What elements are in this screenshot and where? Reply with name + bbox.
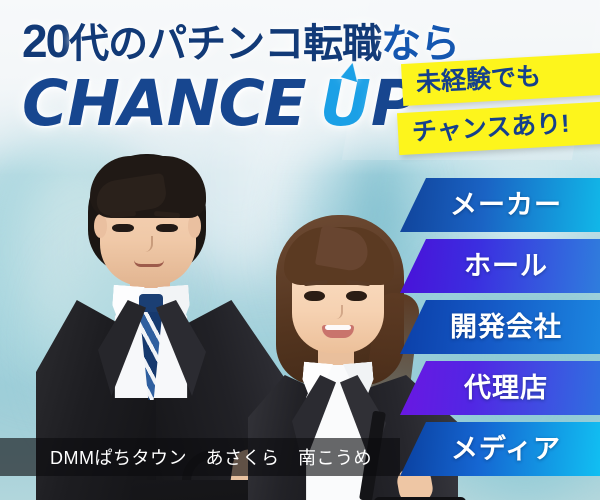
woman-eye-right [346, 291, 367, 301]
man-eye-left [112, 224, 134, 232]
man-eye-right [156, 224, 178, 232]
man-mouth [134, 260, 164, 267]
category-button-hall[interactable]: ホール [400, 239, 600, 293]
badge-chance-available: チャンスあり! [397, 101, 600, 155]
headline-number: 20 [22, 15, 69, 67]
category-label-agency: 代理店 [452, 375, 548, 402]
chance-up-logo: CHANCE U P [22, 72, 417, 135]
badge-no-experience: 未経験でも [401, 52, 600, 106]
category-label-developer: 開発会社 [438, 314, 562, 341]
category-button-media[interactable]: メディア [400, 422, 600, 476]
caption-text: DMMぱちタウン あさくら 南こうめ [0, 444, 372, 470]
woman-eye-left [304, 291, 325, 301]
headline: 20代のパチンコ転職なら [22, 18, 459, 64]
woman-teeth [325, 325, 351, 330]
recruitment-banner: 20代のパチンコ転職なら CHANCE U P 未経験でも チャンスあり! メー… [0, 0, 600, 500]
category-label-media: メディア [439, 436, 561, 463]
category-button-developer[interactable]: 開発会社 [400, 300, 600, 354]
caption-bar: DMMぱちタウン あさくら 南こうめ [0, 438, 400, 476]
category-button-agency[interactable]: 代理店 [400, 361, 600, 415]
logo-u-letter: U [320, 72, 371, 135]
category-button-list: メーカー ホール 開発会社 代理店 メディア [400, 178, 600, 476]
category-label-maker: メーカー [438, 192, 562, 219]
promo-badges: 未経験でも チャンスあり! [398, 58, 600, 149]
category-button-maker[interactable]: メーカー [400, 178, 600, 232]
man-ear-left [94, 214, 107, 238]
category-label-hall: ホール [452, 253, 548, 280]
logo-chance-text: CHANCE [22, 72, 306, 135]
headline-body: 代のパチンコ転職 [69, 22, 381, 66]
